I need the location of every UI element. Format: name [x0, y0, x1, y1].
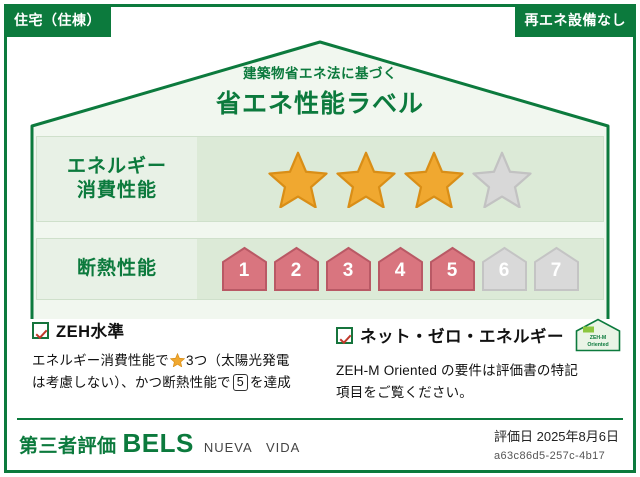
insulation-grade-chip-4: 4: [377, 246, 424, 292]
row-insulation-performance: 断熱性能 1 2: [36, 238, 604, 300]
footer-region: 第三者評価 BELS NUEVA VIDA 評価日 2025年8月6日 a63c…: [7, 418, 633, 470]
page-title: 省エネ性能ラベル: [18, 84, 622, 120]
row-energy-label: エネルギー 消費性能: [37, 155, 197, 203]
statement-nze-title: ネット・ゼロ・エネルギー: [360, 323, 564, 347]
evaluation-date: 評価日 2025年8月6日: [494, 426, 619, 445]
third-party-eval-label: 第三者評価: [19, 431, 117, 458]
footer-evaluation-info: 評価日 2025年8月6日 a63c86d5-257c-4b17: [494, 426, 619, 462]
tag-renewable-energy: 再エネ設備なし: [515, 4, 637, 37]
row-energy-performance: エネルギー 消費性能: [36, 136, 604, 222]
row-insulation-body: 1 2 3 4: [197, 239, 603, 299]
energy-performance-label: 住宅（住棟） 再エネ設備なし 建築物省エネ法に基づく 省エネ性能ラベル エネルギ…: [0, 0, 640, 477]
zeh-m-oriented-badge-icon: ZEH-M Oriented: [575, 318, 621, 352]
checkbox-checked-icon: [32, 322, 49, 339]
insulation-grade-chip-5: 5: [429, 246, 476, 292]
tag-building-type: 住宅（住棟）: [4, 4, 111, 37]
insulation-grade-value: 2: [273, 260, 320, 282]
statement-zeh-title: ZEH水準: [56, 318, 125, 342]
statement-nze-header: ネット・ゼロ・エネルギー ZEH-M Oriented: [336, 318, 616, 352]
footer-certification: 第三者評価 BELS NUEVA VIDA: [19, 428, 300, 459]
owner-name: NUEVA VIDA: [200, 437, 300, 456]
insulation-grade-chip-7: 7: [533, 246, 580, 292]
row-insulation-label: 断熱性能: [37, 257, 197, 281]
checkbox-checked-icon: [336, 327, 353, 344]
statement-zeh-level: ZEH水準 エネルギー消費性能で3つ（太陽光発電 は考慮しない）、かつ断熱性能で…: [18, 318, 320, 414]
star-icon-filled-2: [336, 150, 396, 208]
statement-nze-body: ZEH-M Oriented の要件は評価書の特記 項目をご覧ください。: [336, 360, 616, 404]
insulation-grade-scale: 1 2 3 4: [221, 246, 580, 292]
insulation-grade-value: 1: [221, 260, 268, 282]
bels-logo-text: BELS: [123, 428, 194, 459]
star-icon-filled-1: [268, 150, 328, 208]
star-icon-inline: [170, 353, 185, 367]
insulation-grade-chip-3: 3: [325, 246, 372, 292]
statement-zeh-header: ZEH水準: [32, 318, 314, 342]
star-icon-empty-4: [472, 150, 532, 208]
evaluation-id: a63c86d5-257c-4b17: [494, 450, 619, 462]
statement-zeh-body: エネルギー消費性能で3つ（太陽光発電 は考慮しない）、かつ断熱性能で5を達成: [32, 350, 314, 394]
insulation-grade-value: 6: [481, 260, 528, 282]
insulation-grade-value: 5: [429, 260, 476, 282]
insulation-grade-chip-1: 1: [221, 246, 268, 292]
grade-value-box: 5: [233, 374, 248, 391]
label-subtitle: 建築物省エネ法に基づく: [18, 62, 622, 82]
insulation-grade-value: 7: [533, 260, 580, 282]
statement-net-zero-energy: ネット・ゼロ・エネルギー ZEH-M Oriented ZEH-M Orient…: [320, 318, 622, 414]
insulation-grade-value: 3: [325, 260, 372, 282]
insulation-grade-chip-6: 6: [481, 246, 528, 292]
insulation-grade-value: 4: [377, 260, 424, 282]
zeh-badge-text: ZEH-M Oriented: [575, 335, 621, 348]
footer-divider: [17, 418, 623, 420]
star-rating: [268, 150, 532, 208]
statements-region: ZEH水準 エネルギー消費性能で3つ（太陽光発電 は考慮しない）、かつ断熱性能で…: [18, 318, 622, 414]
star-icon-filled-3: [404, 150, 464, 208]
insulation-grade-chip-2: 2: [273, 246, 320, 292]
row-energy-body: [197, 137, 603, 221]
